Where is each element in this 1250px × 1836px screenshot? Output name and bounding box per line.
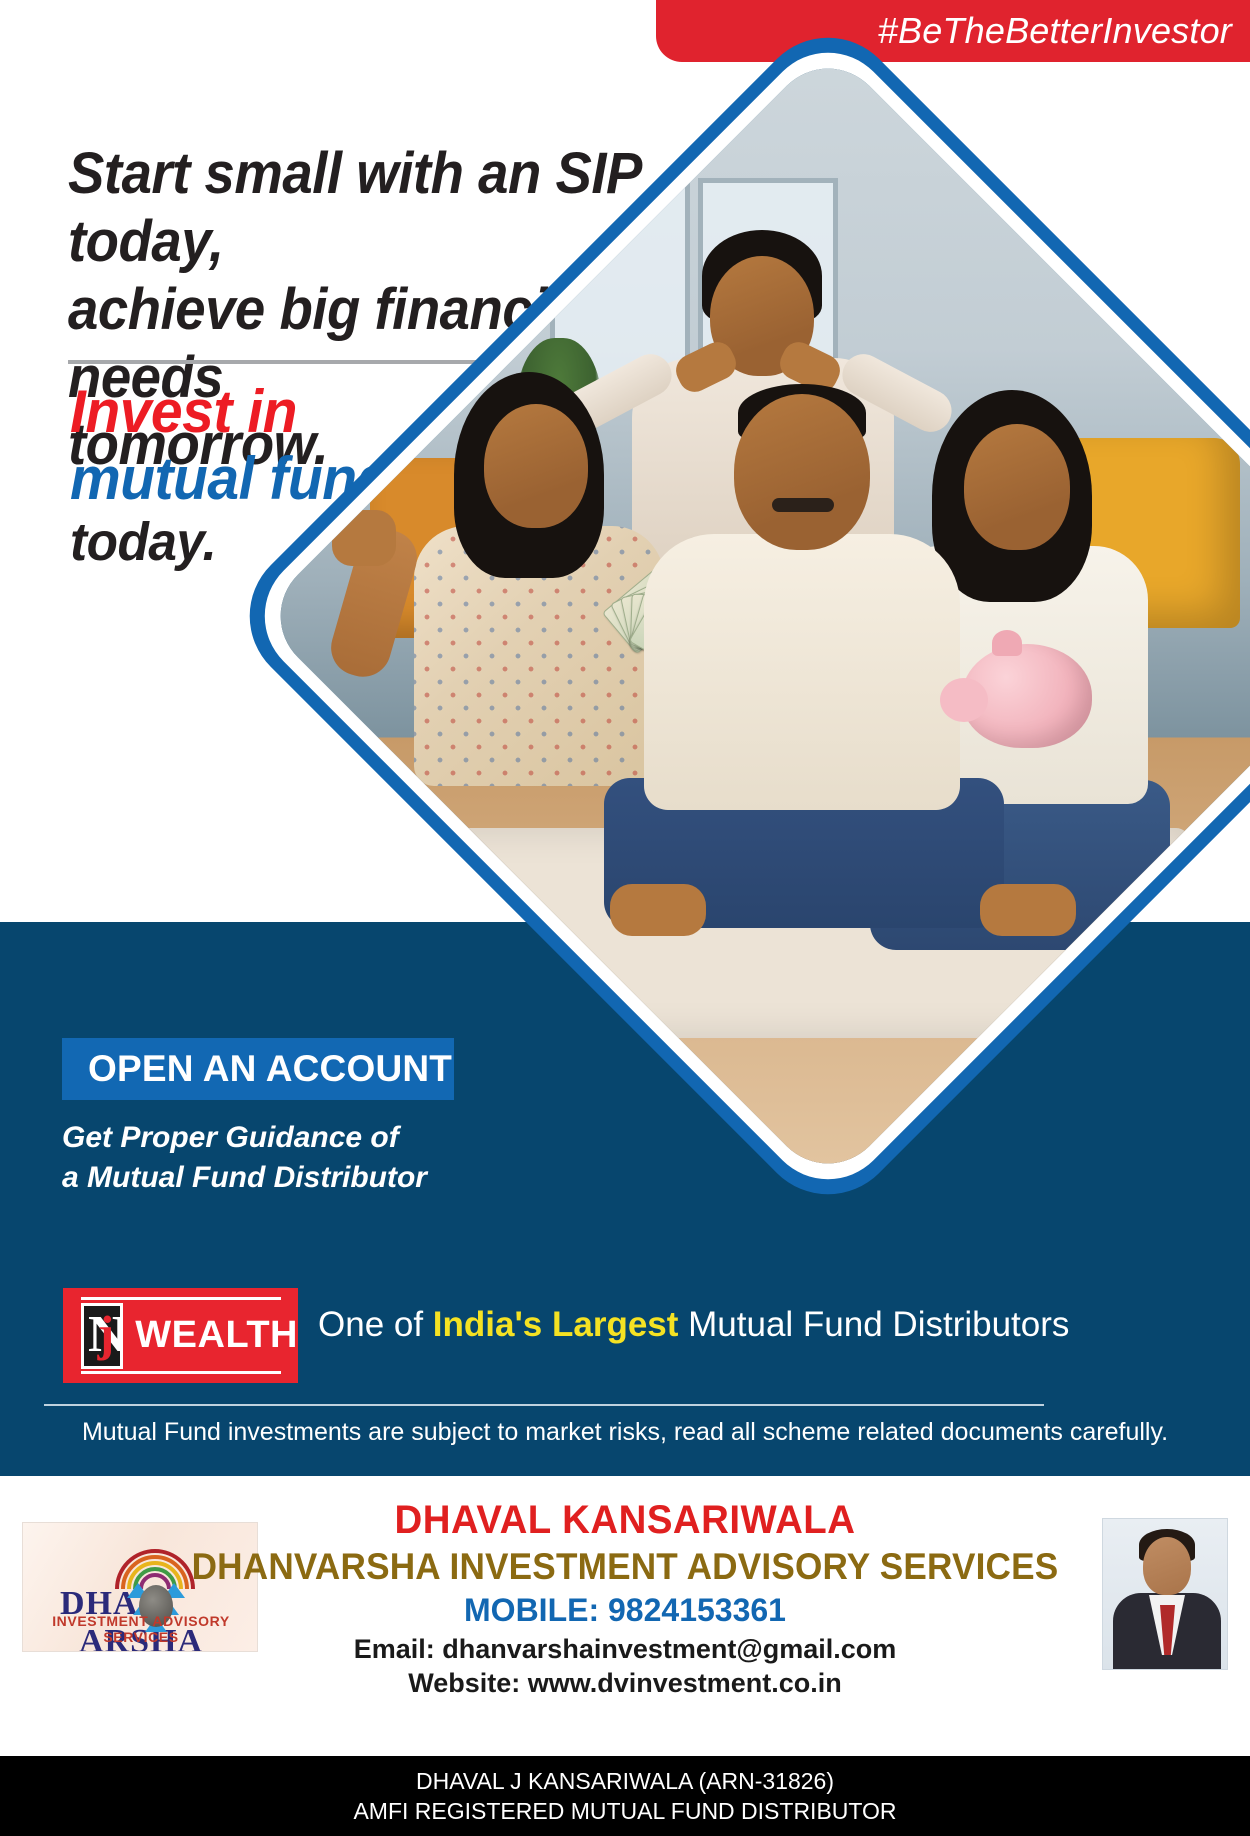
registration-line-1: DHAVAL J KANSARIWALA (ARN-31826) <box>416 1766 834 1796</box>
center-man-foot-left <box>610 884 706 936</box>
guidance-text: Get Proper Guidance of a Mutual Fund Dis… <box>62 1118 532 1197</box>
nj-tagline-highlight: India's Largest <box>433 1305 679 1344</box>
nj-tagline-post: Mutual Fund Distributors <box>678 1305 1069 1344</box>
center-man-foot-right <box>980 884 1076 936</box>
disclaimer-divider <box>44 1404 1044 1406</box>
hashtag-text: #BeTheBetterInvestor <box>878 10 1232 52</box>
nj-monogram-icon: N j <box>81 1303 123 1369</box>
nj-wealth-logo: N j WEALTH <box>63 1288 298 1383</box>
advisor-email[interactable]: Email: dhanvarshainvestment@gmail.com <box>0 1634 1250 1665</box>
nj-logo-bar-top <box>81 1297 281 1300</box>
woman-left-head <box>484 404 588 528</box>
woman-right-head <box>964 424 1070 550</box>
disclaimer-text: Mutual Fund investments are subject to m… <box>0 1418 1250 1447</box>
guidance-line-1: Get Proper Guidance of <box>62 1118 532 1158</box>
advisor-portrait <box>1102 1518 1228 1670</box>
guidance-line-2: a Mutual Fund Distributor <box>62 1158 532 1198</box>
nj-wealth-label: WEALTH <box>135 1314 298 1357</box>
advisor-name: DHAVAL KANSARIWALA <box>25 1498 1225 1543</box>
family-photo <box>257 45 1250 1188</box>
hashtag-ribbon: #BeTheBetterInvestor <box>656 0 1250 62</box>
open-account-button[interactable]: OPEN AN ACCOUNT <box>62 1038 454 1100</box>
portrait-face <box>1143 1537 1191 1595</box>
advisor-website[interactable]: Website: www.dvinvestment.co.in <box>0 1668 1250 1699</box>
nj-tagline: One of India's Largest Mutual Fund Distr… <box>318 1305 1069 1345</box>
registration-bar: DHAVAL J KANSARIWALA (ARN-31826) AMFI RE… <box>0 1756 1250 1836</box>
family-photo-diamond <box>398 186 1250 1046</box>
diamond-photo-clip <box>257 45 1250 1188</box>
registration-line-2: AMFI REGISTERED MUTUAL FUND DISTRIBUTOR <box>353 1796 896 1826</box>
nj-letter-j: j <box>98 1308 115 1358</box>
person-woman-left <box>428 378 668 798</box>
open-account-label: OPEN AN ACCOUNT <box>88 1048 452 1090</box>
poster-canvas: #BeTheBetterInvestor Start small with an… <box>0 0 1250 1836</box>
nj-logo-bar-bottom <box>81 1371 281 1374</box>
center-man-head <box>734 394 870 550</box>
nj-tagline-pre: One of <box>318 1305 433 1344</box>
center-man-mustache <box>772 498 834 512</box>
center-man-torso <box>644 534 960 810</box>
advisor-mobile[interactable]: MOBILE: 9824153361 <box>0 1592 1250 1629</box>
person-center-man <box>690 386 920 946</box>
advisor-firm: DHANVARSHA INVESTMENT ADVISORY SERVICES <box>31 1546 1219 1588</box>
piggy-bank-icon <box>962 644 1092 748</box>
